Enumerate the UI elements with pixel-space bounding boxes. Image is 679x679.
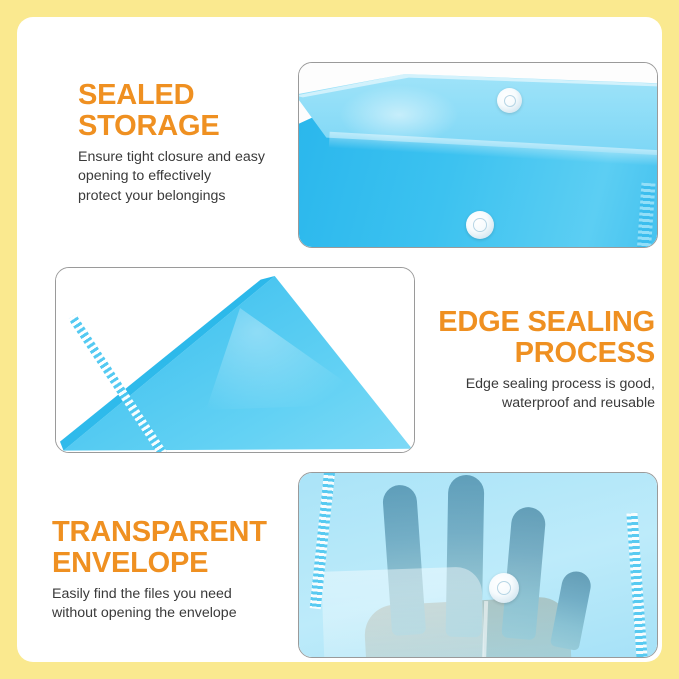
poster-inner-card: SEALED STORAGE Ensure tight closure and …	[17, 17, 662, 662]
feature-text-edge-sealing: EDGE SEALING PROCESS Edge sealing proces…	[415, 307, 655, 414]
feature-photo-transparent-envelope	[298, 472, 658, 658]
snap-button-icon	[489, 573, 519, 603]
envelope-clear-window	[321, 566, 485, 657]
feature-subtext-transparent-envelope: Easily find the files you need without o…	[52, 585, 297, 624]
snap-button-icon	[497, 88, 522, 113]
sealed-edge-photo	[56, 268, 414, 452]
plastic-sheen	[339, 85, 459, 145]
feature-subtext-sealed-storage: Ensure tight closure and easy opening to…	[78, 148, 283, 206]
snap-button-icon	[466, 211, 494, 239]
hand-behind-envelope-photo	[299, 473, 657, 657]
feature-headline-transparent-envelope: TRANSPARENT ENVELOPE	[52, 517, 297, 579]
product-feature-poster: SEALED STORAGE Ensure tight closure and …	[0, 0, 679, 679]
feature-headline-sealed-storage: SEALED STORAGE	[78, 80, 283, 142]
envelope-flap-photo	[299, 63, 657, 247]
feature-text-sealed-storage: SEALED STORAGE Ensure tight closure and …	[78, 80, 283, 206]
feature-photo-sealed-storage	[298, 62, 658, 248]
feature-photo-edge-sealing	[55, 267, 415, 453]
feature-subtext-edge-sealing: Edge sealing process is good, waterproof…	[415, 375, 655, 414]
feature-headline-edge-sealing: EDGE SEALING PROCESS	[415, 307, 655, 369]
feature-text-transparent-envelope: TRANSPARENT ENVELOPE Easily find the fil…	[52, 517, 297, 624]
